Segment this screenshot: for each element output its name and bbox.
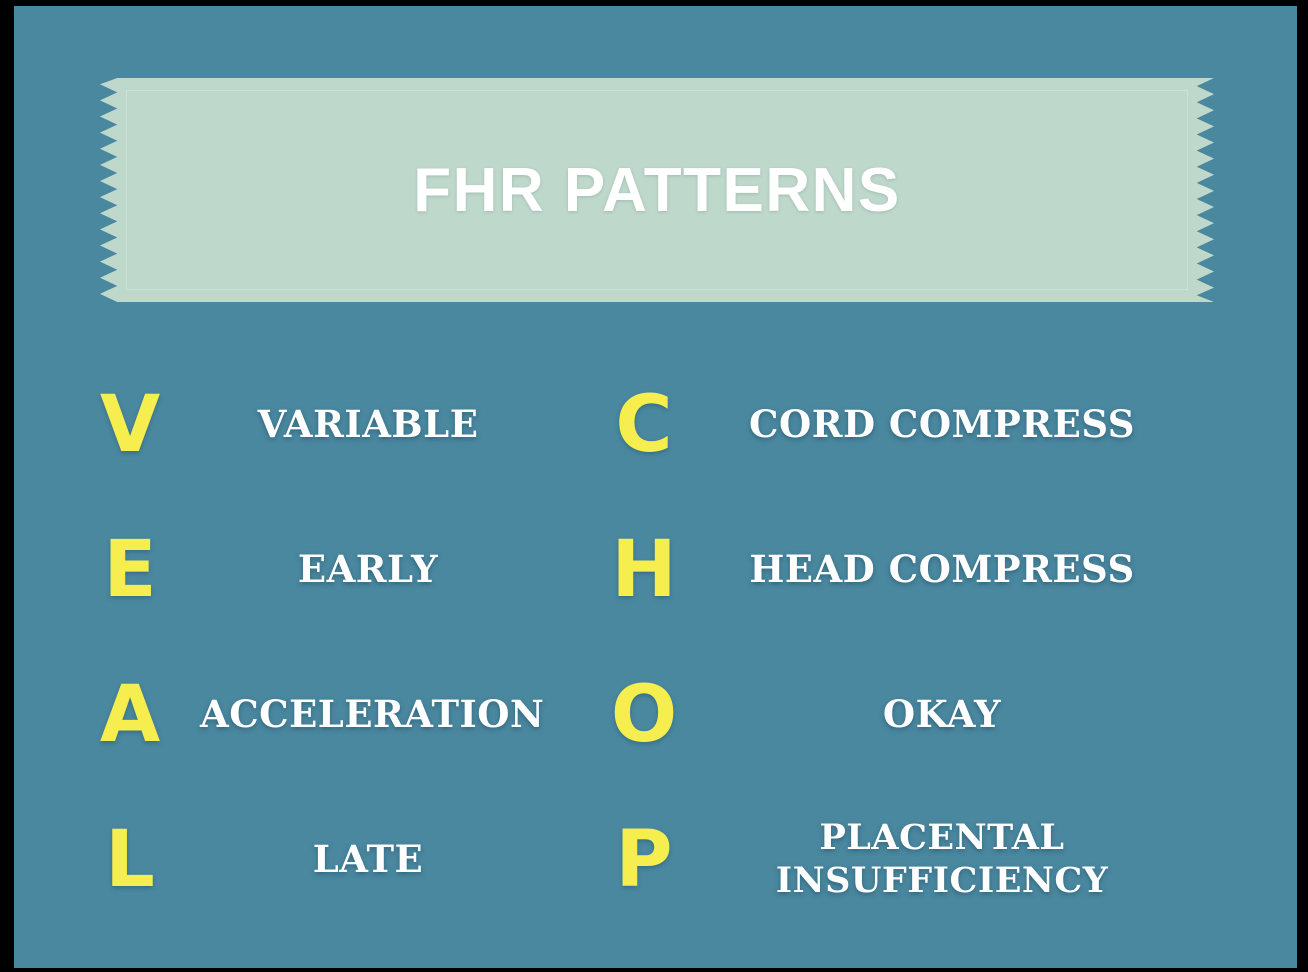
mnemonic-row: E EARLY H HEAD COMPRESS bbox=[14, 497, 1297, 642]
slide-content: FHR PATTERNS V VARIABLE C CORD COMPRESS … bbox=[14, 6, 1297, 968]
veal-entry-3: L LATE bbox=[14, 787, 574, 932]
chop-entry-1: H HEAD COMPRESS bbox=[574, 497, 1202, 642]
title-banner: FHR PATTERNS bbox=[100, 78, 1214, 302]
acronym-letter-h: H bbox=[584, 531, 704, 609]
acronym-word-early: EARLY bbox=[200, 547, 574, 592]
acronym-word-okay: OKAY bbox=[704, 692, 1202, 737]
placental-line-1: PLACENTAL bbox=[704, 817, 1180, 860]
veal-entry-0: V VARIABLE bbox=[14, 352, 574, 497]
acronym-word-placental-insufficiency: PLACENTAL INSUFFICIENCY bbox=[704, 817, 1202, 902]
chop-entry-3: P PLACENTAL INSUFFICIENCY bbox=[574, 787, 1202, 932]
chop-entry-0: C CORD COMPRESS bbox=[574, 352, 1202, 497]
acronym-letter-l: L bbox=[60, 821, 200, 899]
acronym-word-acceleration: ACCELERATION bbox=[200, 692, 582, 737]
acronym-letter-e: E bbox=[60, 531, 200, 609]
acronym-letter-a: A bbox=[60, 676, 200, 754]
veal-entry-1: E EARLY bbox=[14, 497, 574, 642]
placental-line-2: INSUFFICIENCY bbox=[704, 860, 1180, 903]
mnemonic-grid: V VARIABLE C CORD COMPRESS E EARLY H HEA… bbox=[14, 352, 1297, 932]
acronym-letter-c: C bbox=[584, 386, 704, 464]
chop-entry-2: O OKAY bbox=[574, 642, 1202, 787]
mnemonic-row: L LATE P PLACENTAL INSUFFICIENCY bbox=[14, 787, 1297, 932]
acronym-letter-v: V bbox=[60, 386, 200, 464]
acronym-word-late: LATE bbox=[200, 837, 574, 882]
acronym-word-cord-compress: CORD COMPRESS bbox=[704, 402, 1202, 447]
veal-entry-2: A ACCELERATION bbox=[14, 642, 574, 787]
mnemonic-row: V VARIABLE C CORD COMPRESS bbox=[14, 352, 1297, 497]
acronym-letter-p: P bbox=[584, 821, 704, 899]
mnemonic-row: A ACCELERATION O OKAY bbox=[14, 642, 1297, 787]
acronym-word-head-compress: HEAD COMPRESS bbox=[704, 547, 1202, 592]
acronym-letter-o: O bbox=[584, 676, 704, 754]
page-title: FHR PATTERNS bbox=[100, 78, 1214, 302]
slide-canvas: FHR PATTERNS V VARIABLE C CORD COMPRESS … bbox=[0, 0, 1308, 972]
acronym-word-variable: VARIABLE bbox=[200, 402, 574, 447]
